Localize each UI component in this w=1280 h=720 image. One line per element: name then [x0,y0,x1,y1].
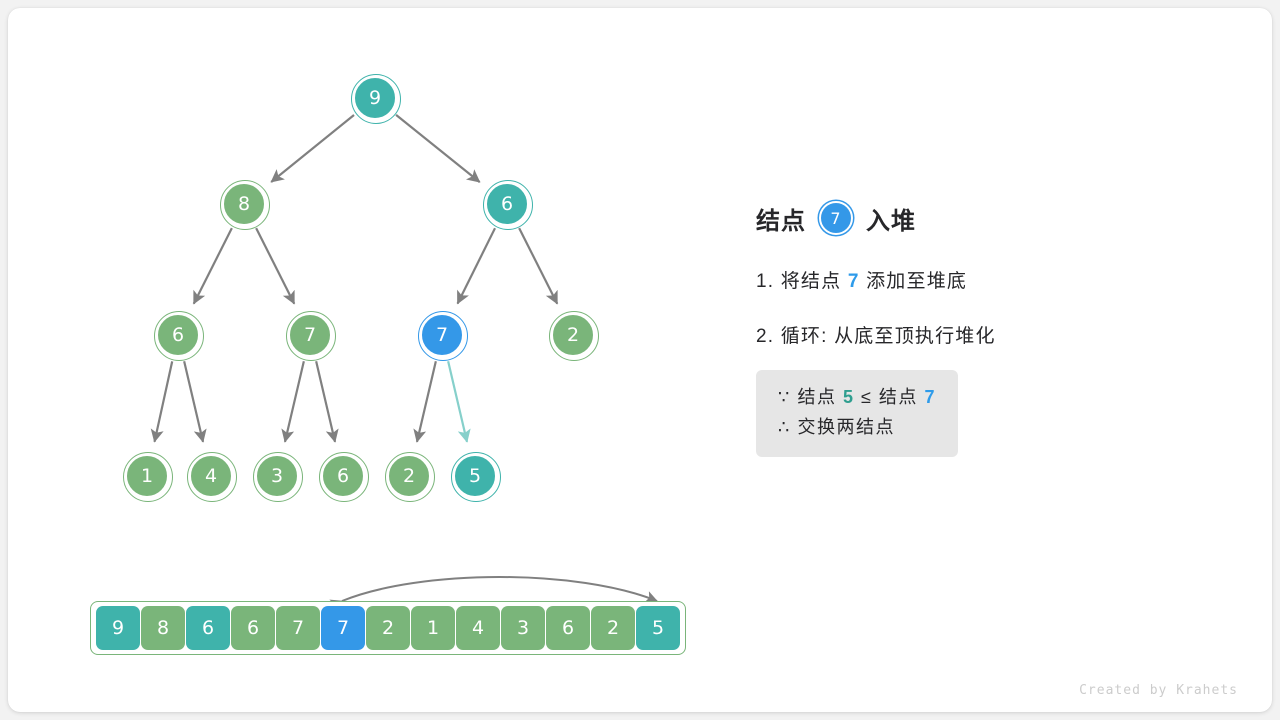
credit-text: Created by Krahets [1079,683,1238,698]
reasoning-box: ∵ 结点 5 ≤ 结点 7 ∴ 交换两结点 [756,370,958,457]
tree-node-label: 2 [567,324,579,346]
page-title: 结点 7 入堆 [756,198,1236,238]
tree-node: 7 [288,313,332,357]
array-cell: 6 [546,606,590,650]
premise-label-a: 结点 [797,387,836,407]
array-cell: 2 [366,606,410,650]
tree-node-label: 7 [436,324,448,346]
tree-node: 6 [485,182,529,226]
tree-node: 5 [453,454,497,498]
tree-node-label: 6 [172,324,184,346]
tree-node: 2 [551,313,595,357]
array-cell: 7 [276,606,320,650]
step-1: 1. 将结点 7 添加至堆底 [756,266,1236,293]
because-symbol: ∵ [778,387,791,407]
step-1-number: 1. [756,271,774,292]
premise-value-b: 7 [924,387,936,407]
premise-operator: ≤ [861,387,872,407]
tree-node: 6 [321,454,365,498]
premise-value-a: 5 [843,387,855,407]
array-cell: 3 [501,606,545,650]
tree-node: 2 [387,454,431,498]
step-1-highlight: 7 [848,271,860,292]
tree-node-label: 3 [271,465,283,487]
step-1-after: 添加至堆底 [866,271,967,292]
tree-node-label: 6 [501,193,513,215]
therefore-symbol: ∴ [778,417,791,437]
array-cell: 9 [96,606,140,650]
tree-node-label: 7 [304,324,316,346]
tree-node: 3 [255,454,299,498]
array-cell: 7 [321,606,365,650]
step-1-before: 将结点 [781,271,842,292]
title-prefix: 结点 [756,201,806,236]
title-suffix: 入堆 [866,201,916,236]
tree-node-label: 2 [403,465,415,487]
reasoning-premise: ∵ 结点 5 ≤ 结点 7 [778,383,936,413]
array-cell: 4 [456,606,500,650]
tree-node: 4 [189,454,233,498]
premise-label-b: 结点 [879,387,918,407]
array-cell: 6 [231,606,275,650]
array-cell: 6 [186,606,230,650]
tree-node-label: 1 [141,465,153,487]
array-cell: 5 [636,606,680,650]
step-2: 2. 循环: 从底至顶执行堆化 [756,321,1236,348]
tree-node-label: 6 [337,465,349,487]
tree-node: 7 [420,313,464,357]
array-cell: 8 [141,606,185,650]
tree-node-label: 4 [205,465,217,487]
reasoning-conclusion: ∴ 交换两结点 [778,413,936,443]
tree-node: 1 [125,454,169,498]
conclusion-text: 交换两结点 [797,417,895,437]
tree-node-label: 8 [238,193,250,215]
tree-node: 8 [222,182,266,226]
tree-node-label: 5 [469,465,481,487]
tree-node-label: 9 [369,87,381,109]
screenshot-root: 9866772143625 9866772143625 结点 7 入堆 1. 将… [0,0,1280,720]
heap-array: 9866772143625 [90,601,686,655]
step-2-text: 循环: 从底至顶执行堆化 [781,326,996,347]
array-cell: 2 [591,606,635,650]
explanation-panel: 结点 7 入堆 1. 将结点 7 添加至堆底 2. 循环: 从底至顶执行堆化 ∵… [756,198,1236,457]
array-cell: 1 [411,606,455,650]
step-2-number: 2. [756,326,774,347]
tree-node: 6 [156,313,200,357]
title-node-badge: 7 [819,201,853,235]
tree-node: 9 [353,76,397,120]
